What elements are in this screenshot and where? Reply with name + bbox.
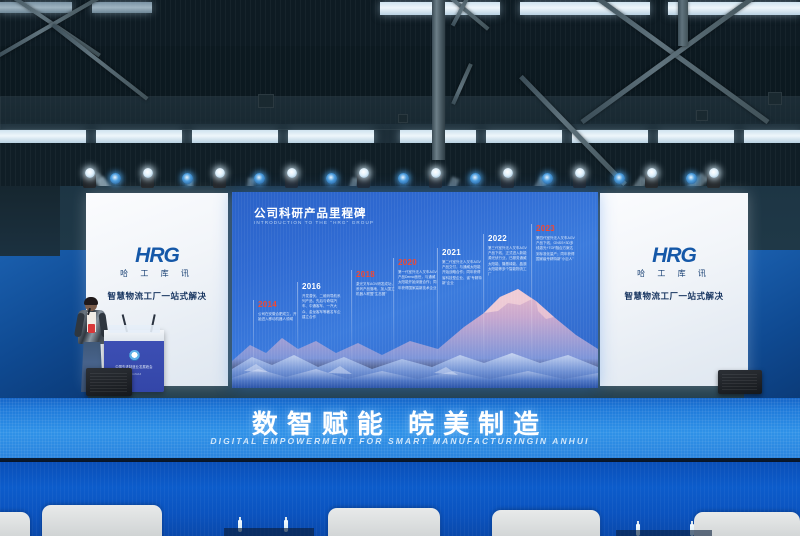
stage-monitor-speaker [718,370,762,394]
stage-photograph: HRG 哈 工 库 讯 智慧物流工厂一站式解决 HRG 哈 工 库 讯 智慧物流… [0,0,800,536]
moving-head-light [706,168,721,190]
moving-head-light [212,168,227,190]
timeline-year: 2023 [536,224,576,233]
stage-front-led: 数智赋能 皖美制造 DIGITAL EMPOWERMENT FOR SMART … [0,398,800,460]
timeline-item: 2022 第三代室外无人叉车AGV产品下线，正式进入新能源光伏行业，已服务通威太… [488,234,528,277]
moving-head-light [356,168,371,190]
presenter-badge [88,324,95,333]
hrg-logo-cn-right: 哈 工 库 讯 [600,268,748,279]
moving-head-light [428,168,443,190]
event-emblem-icon [129,350,140,361]
timeline-year: 2014 [258,300,298,309]
timeline-item: 2021 第二代室外无人叉车AGV产品交付，与通威太阳能开始战略合作；同年获得省… [442,248,482,286]
screen-title: 公司科研产品里程碑 [254,205,367,221]
stage-wall-dark-left [0,186,60,256]
screen-subtitle: INTRODUCTION TO THE "HRG" GROUP [254,220,374,225]
led-panel-right: HRG 哈 工 库 讯 智慧物流工厂一站式解决 [600,193,748,386]
moving-head-light [284,168,299,190]
ceiling-fixture [258,94,274,108]
audience-chair [42,505,162,536]
timeline-item: 2016 开发潜伏、二维码导航系列产品，先后与奇瑞汽车、中通客车、一汽大众、金龙… [302,282,342,320]
ceiling-fixture [398,114,408,123]
main-led-screen: 公司科研产品里程碑 INTRODUCTION TO THE "HRG" GROU… [232,192,598,388]
hrg-logo-right: HRG [600,245,748,266]
mountain-artwork [232,283,598,388]
timeline-year: 2016 [302,282,342,291]
moving-head-light [500,168,515,190]
timeline-body: 第一代室外无人叉车AGV产品Demo面世，与通威太阳能开始深度合作；同年获得国家… [398,270,438,291]
timeline-body: 激光叉车AGV研发成功，系列产品落地，加入国工机器人联盟"生态圈" [356,282,396,298]
par-light [326,173,337,185]
stage-headline-cn: 数智赋能 皖美制造 [0,404,800,441]
timeline-year: 2020 [398,258,438,267]
stage-headline-en: DIGITAL EMPOWERMENT FOR SMART MANUFACTUR… [0,436,800,446]
moving-head-light [572,168,587,190]
timeline-year: 2022 [488,234,528,243]
timeline-body: 第三代室外无人叉车AGV产品下线，正式进入新能源光伏行业，已服务通威太阳能、隆基… [488,246,528,277]
slogan-right: 智慧物流工厂一站式解决 [600,290,748,302]
hrg-logo-cn-left: 哈 工 库 讯 [86,268,228,279]
audience-table [224,528,314,536]
audience-chair [328,508,440,536]
audience-table [616,530,712,536]
audience-chair [0,512,30,536]
moving-head-light [140,168,155,190]
stage-lighting-truss [82,166,722,192]
par-light [110,173,121,185]
par-light [470,173,481,185]
hrg-logo-left: HRG [86,245,228,266]
stage-monitor-speaker [86,368,132,396]
moving-head-light [82,168,97,190]
moving-head-light [644,168,659,190]
timeline-body: 公司在安徽合肥成立，开始进入移动机器人领域 [258,312,298,322]
par-light [254,173,265,185]
par-light [542,173,553,185]
timeline-item: 2023 第四代室外无人叉车AGV产品下线，GNSS+3D多线激光+TOF融合方… [536,224,576,262]
audience-chair [492,510,600,536]
hall-ceiling [0,0,800,186]
timeline-body: 第四代室外无人叉车AGV产品下线，GNSS+3D多线激光+TOF融合方案达到标准… [536,236,576,262]
par-light [686,173,697,185]
hall-column [432,0,445,160]
par-light [614,173,625,185]
timeline-year: 2021 [442,248,482,257]
timeline-body: 开发潜伏、二维码导航系列产品，先后与奇瑞汽车、中通客车、一汽大众、金龙客车等著名… [302,294,342,320]
timeline-item: 2014 公司在安徽合肥成立，开始进入移动机器人领域 [258,300,298,322]
ceiling-fixture [696,110,708,121]
presenter-hair [84,297,98,305]
par-light [182,173,193,185]
timeline-year: 2018 [356,270,396,279]
podium-small-screen [108,325,160,333]
timeline-body: 第二代室外无人叉车AGV产品交付，与通威太阳能开始战略合作；同年获得省科技型企业… [442,260,482,286]
timeline-item: 2020 第一代室外无人叉车AGV产品Demo面世，与通威太阳能开始深度合作；同… [398,258,438,291]
timeline-item: 2018 激光叉车AGV研发成功，系列产品落地，加入国工机器人联盟"生态圈" [356,270,396,298]
par-light [398,173,409,185]
ceiling-fixture [768,92,782,105]
